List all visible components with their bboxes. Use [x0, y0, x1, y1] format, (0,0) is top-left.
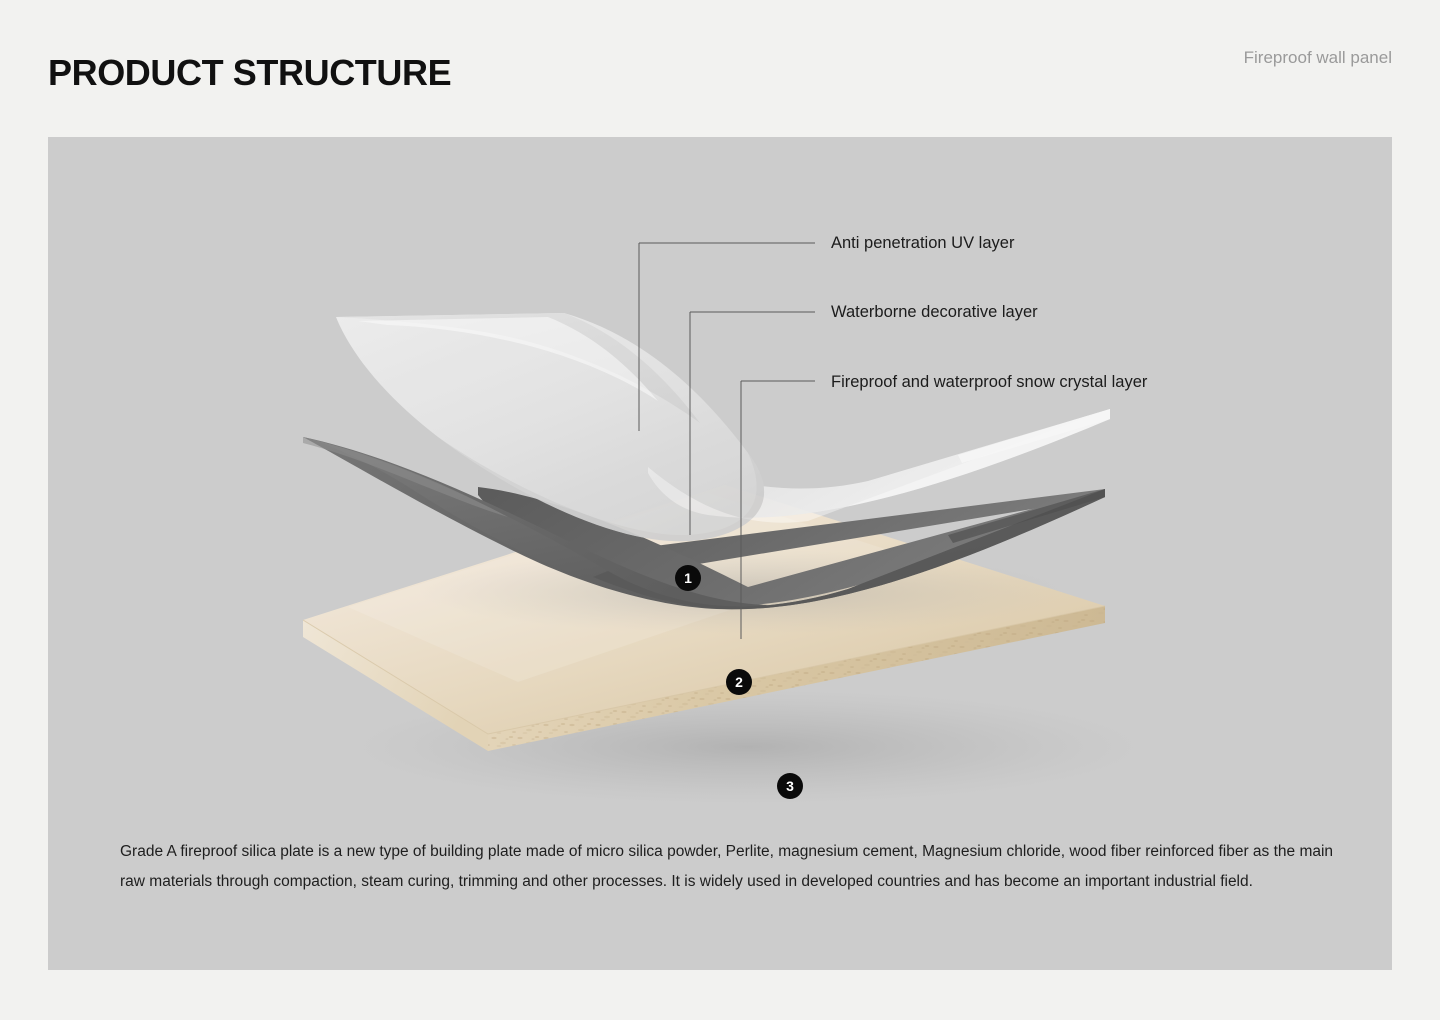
layer-base-silica-board — [303, 485, 1105, 751]
board-shadow — [348, 689, 1148, 805]
callout-label-3: Fireproof and waterproof snow crystal la… — [831, 374, 1147, 391]
callout-marker-1[interactable]: 1 — [675, 565, 701, 591]
leader-line-2 — [690, 312, 815, 535]
leader-line-1 — [639, 243, 815, 431]
callout-label-1: Anti penetration UV layer — [831, 235, 1014, 252]
leader-lines — [639, 243, 815, 639]
callout-marker-2[interactable]: 2 — [726, 669, 752, 695]
callout-label-2: Waterborne decorative layer — [831, 304, 1038, 321]
callout-marker-3[interactable]: 3 — [777, 773, 803, 799]
layer-anti-penetration-uv — [336, 313, 1110, 541]
layer-waterborne-decorative — [303, 437, 1105, 609]
diagram-stage: Anti penetration UV layer Waterborne dec… — [48, 137, 1392, 970]
product-description: Grade A fireproof silica plate is a new … — [120, 837, 1336, 897]
leader-line-3 — [741, 381, 815, 639]
dark-sheet-shadow — [418, 550, 1078, 634]
page-header: PRODUCT STRUCTURE Fireproof wall panel — [0, 0, 1440, 137]
page-title: PRODUCT STRUCTURE — [48, 52, 451, 94]
header-caption: Fireproof wall panel — [1244, 48, 1392, 68]
